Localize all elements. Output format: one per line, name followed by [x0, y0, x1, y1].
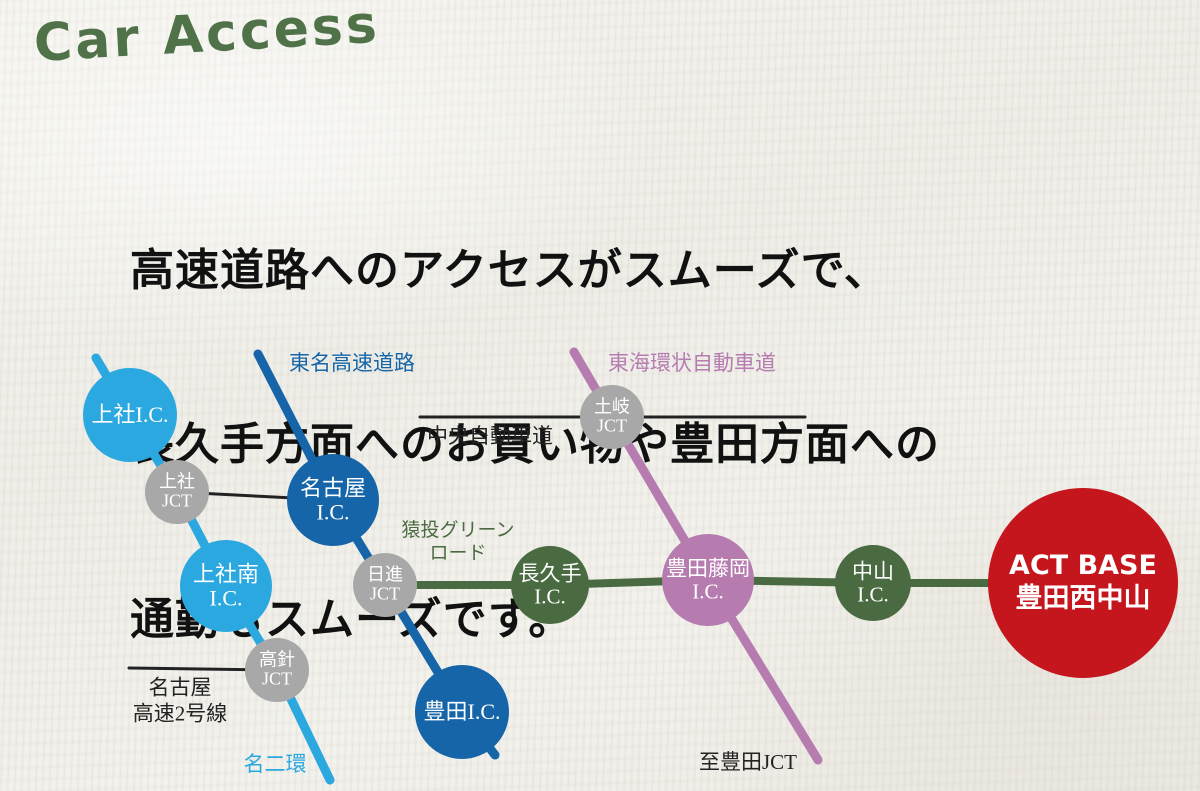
map-node-kamiyashiro-ic[interactable] [83, 368, 177, 462]
road-label-tokai-kanjo-expressway: 東海環状自動車道 [608, 351, 776, 377]
road-label-meinikan: 名二環 [244, 752, 307, 778]
road-label-sanage-green-road: 猿投グリーン ロード [401, 519, 514, 565]
road-label-to-toyota-jct: 至豊田JCT [699, 750, 797, 776]
access-map-diagram [0, 0, 1200, 791]
road-label-nagoya-expressway-route2: 名古屋 高速2号線 [133, 675, 228, 726]
map-node-kamiyashiro-minami-ic[interactable] [180, 540, 272, 632]
map-node-nakayama-ic[interactable] [835, 545, 911, 621]
map-node-kamiyashiro-jct[interactable] [145, 460, 209, 524]
map-node-nagoya-ic[interactable] [287, 454, 379, 546]
nodes-layer [83, 368, 1178, 759]
road-label-tomei-expressway: 東名高速道路 [289, 351, 415, 377]
map-node-toyota-ic[interactable] [415, 665, 509, 759]
map-node-toki-jct[interactable] [580, 385, 644, 449]
map-node-toyotafujioka-ic[interactable] [662, 534, 754, 626]
map-node-nagakute-ic[interactable] [511, 546, 589, 624]
map-node-act-base[interactable] [988, 488, 1178, 678]
map-node-takabari-jct[interactable] [245, 638, 309, 702]
road-label-chuo-expressway: 中央自動車道 [427, 424, 553, 450]
